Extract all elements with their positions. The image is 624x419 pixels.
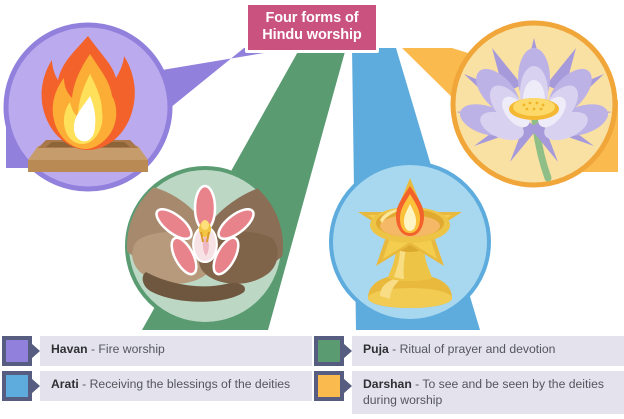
legend-text-darshan: Darshan - To see and be seen by the deit… <box>352 371 624 414</box>
arrow-pointer-icon <box>343 378 352 394</box>
title-line-1: Four forms of <box>254 10 370 27</box>
legend-item-arati[interactable]: Arati - Receiving the blessings of the d… <box>2 371 312 401</box>
legend-term: Darshan <box>363 377 412 391</box>
legend-term: Puja <box>363 342 389 356</box>
arrow-pointer-icon <box>31 378 40 394</box>
legend-description: - Receiving the blessings of the deities <box>82 377 290 391</box>
legend-term: Havan <box>51 342 88 356</box>
arrow-pointer-icon <box>31 343 40 359</box>
swatch-frame <box>314 371 344 401</box>
swatch-frame <box>2 371 32 401</box>
color-chip <box>6 340 28 362</box>
legend-swatch-darshan <box>314 371 352 401</box>
legend-column-left: Havan - Fire worship Arati - Receiving t… <box>2 336 312 406</box>
legend-swatch-arati <box>2 371 40 401</box>
color-chip <box>6 375 28 397</box>
four-forms-of-hindu-worship-infographic: Four forms of Hindu worship Havan - Fire… <box>0 0 624 418</box>
color-chip <box>318 340 340 362</box>
legend-item-havan[interactable]: Havan - Fire worship <box>2 336 312 366</box>
legend-description: - Fire worship <box>91 342 165 356</box>
title-line-2: Hindu worship <box>254 27 370 44</box>
swatch-frame <box>2 336 32 366</box>
page-title: Four forms of Hindu worship <box>245 2 379 53</box>
legend: Havan - Fire worship Arati - Receiving t… <box>0 336 624 418</box>
legend-item-puja[interactable]: Puja - Ritual of prayer and devotion <box>314 336 624 366</box>
legend-item-darshan[interactable]: Darshan - To see and be seen by the deit… <box>314 371 624 414</box>
circle-havan <box>6 25 170 189</box>
legend-swatch-puja <box>314 336 352 366</box>
color-chip <box>318 375 340 397</box>
swatch-frame <box>314 336 344 366</box>
circle-arati <box>331 163 489 321</box>
legend-description: - Ritual of prayer and devotion <box>392 342 555 356</box>
legend-text-arati: Arati - Receiving the blessings of the d… <box>40 371 312 401</box>
circle-darshan <box>453 23 615 185</box>
legend-term: Arati <box>51 377 79 391</box>
arrow-pointer-icon <box>343 343 352 359</box>
legend-text-puja: Puja - Ritual of prayer and devotion <box>352 336 624 366</box>
legend-text-havan: Havan - Fire worship <box>40 336 312 366</box>
legend-swatch-havan <box>2 336 40 366</box>
legend-column-right: Puja - Ritual of prayer and devotion Dar… <box>314 336 624 419</box>
